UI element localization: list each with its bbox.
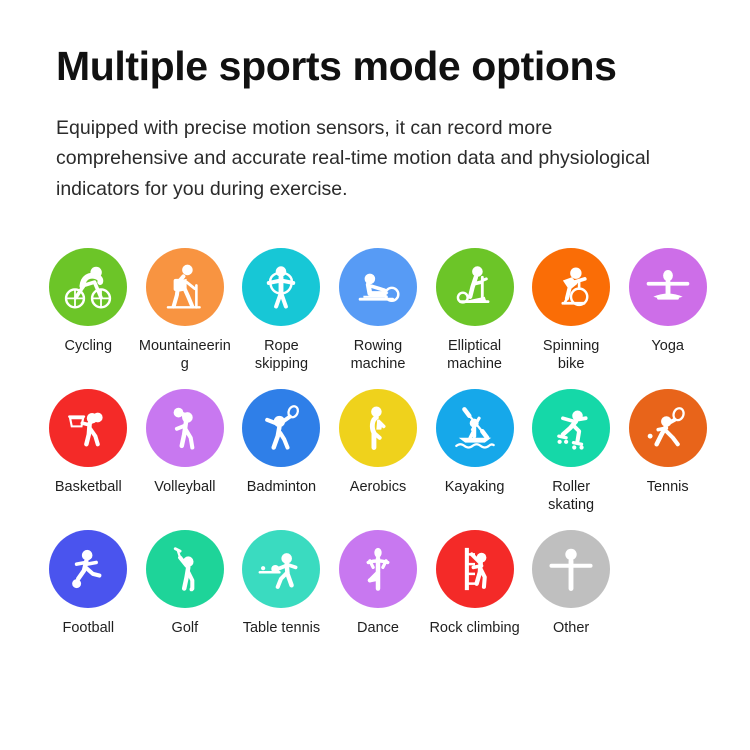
sport-mode-label: Rowingmachine bbox=[351, 337, 406, 373]
roller-skating-icon bbox=[532, 389, 610, 467]
other-icon bbox=[532, 530, 610, 608]
sport-mode-label-line2: machine bbox=[351, 355, 406, 373]
sport-mode-elliptical-machine[interactable]: Ellipticalmachine bbox=[426, 248, 523, 373]
sport-mode-label: Basketball bbox=[55, 478, 122, 496]
sport-mode-rock-climbing[interactable]: Rock climbing bbox=[426, 530, 523, 637]
dance-icon bbox=[339, 530, 417, 608]
table-tennis-icon bbox=[242, 530, 320, 608]
sport-mode-label: Rollerskating bbox=[548, 478, 594, 514]
sport-mode-tennis[interactable]: Tennis bbox=[619, 389, 716, 496]
sport-mode-label-line2: skating bbox=[548, 496, 594, 514]
sport-mode-label-line2: bike bbox=[543, 355, 599, 373]
sport-mode-dance[interactable]: Dance bbox=[330, 530, 427, 637]
sport-mode-label: Mountaineering bbox=[137, 337, 233, 373]
sport-mode-rope-skipping[interactable]: Ropeskipping bbox=[233, 248, 330, 373]
sport-mode-volleyball[interactable]: Volleyball bbox=[137, 389, 234, 496]
badminton-icon bbox=[242, 389, 320, 467]
sport-mode-label: Ellipticalmachine bbox=[447, 337, 502, 373]
sport-mode-label: Dance bbox=[357, 619, 399, 637]
sport-mode-label: Tennis bbox=[647, 478, 689, 496]
sport-mode-label: Volleyball bbox=[154, 478, 215, 496]
sport-mode-football[interactable]: Football bbox=[40, 530, 137, 637]
sport-mode-label-line2: skipping bbox=[255, 355, 308, 373]
rowing-machine-icon bbox=[339, 248, 417, 326]
sport-mode-aerobics[interactable]: Aerobics bbox=[330, 389, 427, 496]
kayaking-icon bbox=[436, 389, 514, 467]
sport-mode-kayaking[interactable]: Kayaking bbox=[426, 389, 523, 496]
sports-mode-grid: Cycling Mountaineering Ropeskipping Rowi… bbox=[0, 248, 750, 638]
sport-mode-basketball[interactable]: Basketball bbox=[40, 389, 137, 496]
sport-mode-label: Golf bbox=[172, 619, 199, 637]
sport-mode-spinning-bike[interactable]: Spinningbike bbox=[523, 248, 620, 373]
sport-mode-label: Kayaking bbox=[445, 478, 505, 496]
tennis-icon bbox=[629, 389, 707, 467]
sport-mode-label: Aerobics bbox=[350, 478, 406, 496]
spinning-bike-icon bbox=[532, 248, 610, 326]
sport-mode-label-line2: machine bbox=[447, 355, 502, 373]
cycling-icon bbox=[49, 248, 127, 326]
sport-mode-badminton[interactable]: Badminton bbox=[233, 389, 330, 496]
football-icon bbox=[49, 530, 127, 608]
header: Multiple sports mode options Equipped wi… bbox=[0, 0, 750, 204]
sport-mode-table-tennis[interactable]: Table tennis bbox=[233, 530, 330, 637]
yoga-icon bbox=[629, 248, 707, 326]
page-subtitle: Equipped with precise motion sensors, it… bbox=[56, 113, 681, 204]
page-title: Multiple sports mode options bbox=[56, 44, 694, 89]
rope-skipping-icon bbox=[242, 248, 320, 326]
basketball-icon bbox=[49, 389, 127, 467]
mountaineering-icon bbox=[146, 248, 224, 326]
sport-mode-other[interactable]: Other bbox=[523, 530, 620, 637]
sport-mode-label: Other bbox=[553, 619, 589, 637]
sport-mode-rowing-machine[interactable]: Rowingmachine bbox=[330, 248, 427, 373]
aerobics-icon bbox=[339, 389, 417, 467]
golf-icon bbox=[146, 530, 224, 608]
sport-mode-label: Ropeskipping bbox=[255, 337, 308, 373]
sport-mode-mountaineering[interactable]: Mountaineering bbox=[137, 248, 234, 373]
elliptical-machine-icon bbox=[436, 248, 514, 326]
rock-climbing-icon bbox=[436, 530, 514, 608]
sport-mode-roller-skating[interactable]: Rollerskating bbox=[523, 389, 620, 514]
sport-mode-label: Cycling bbox=[65, 337, 113, 355]
sport-mode-label: Badminton bbox=[247, 478, 316, 496]
sport-mode-cycling[interactable]: Cycling bbox=[40, 248, 137, 355]
sport-mode-label: Football bbox=[62, 619, 114, 637]
sport-mode-label: Yoga bbox=[651, 337, 684, 355]
sports-modes-page: Multiple sports mode options Equipped wi… bbox=[0, 0, 750, 750]
sport-mode-label: Rock climbing bbox=[429, 619, 519, 637]
sport-mode-golf[interactable]: Golf bbox=[137, 530, 234, 637]
sport-mode-label: Spinningbike bbox=[543, 337, 599, 373]
sport-mode-yoga[interactable]: Yoga bbox=[619, 248, 716, 355]
volleyball-icon bbox=[146, 389, 224, 467]
sport-mode-label: Table tennis bbox=[243, 619, 320, 637]
